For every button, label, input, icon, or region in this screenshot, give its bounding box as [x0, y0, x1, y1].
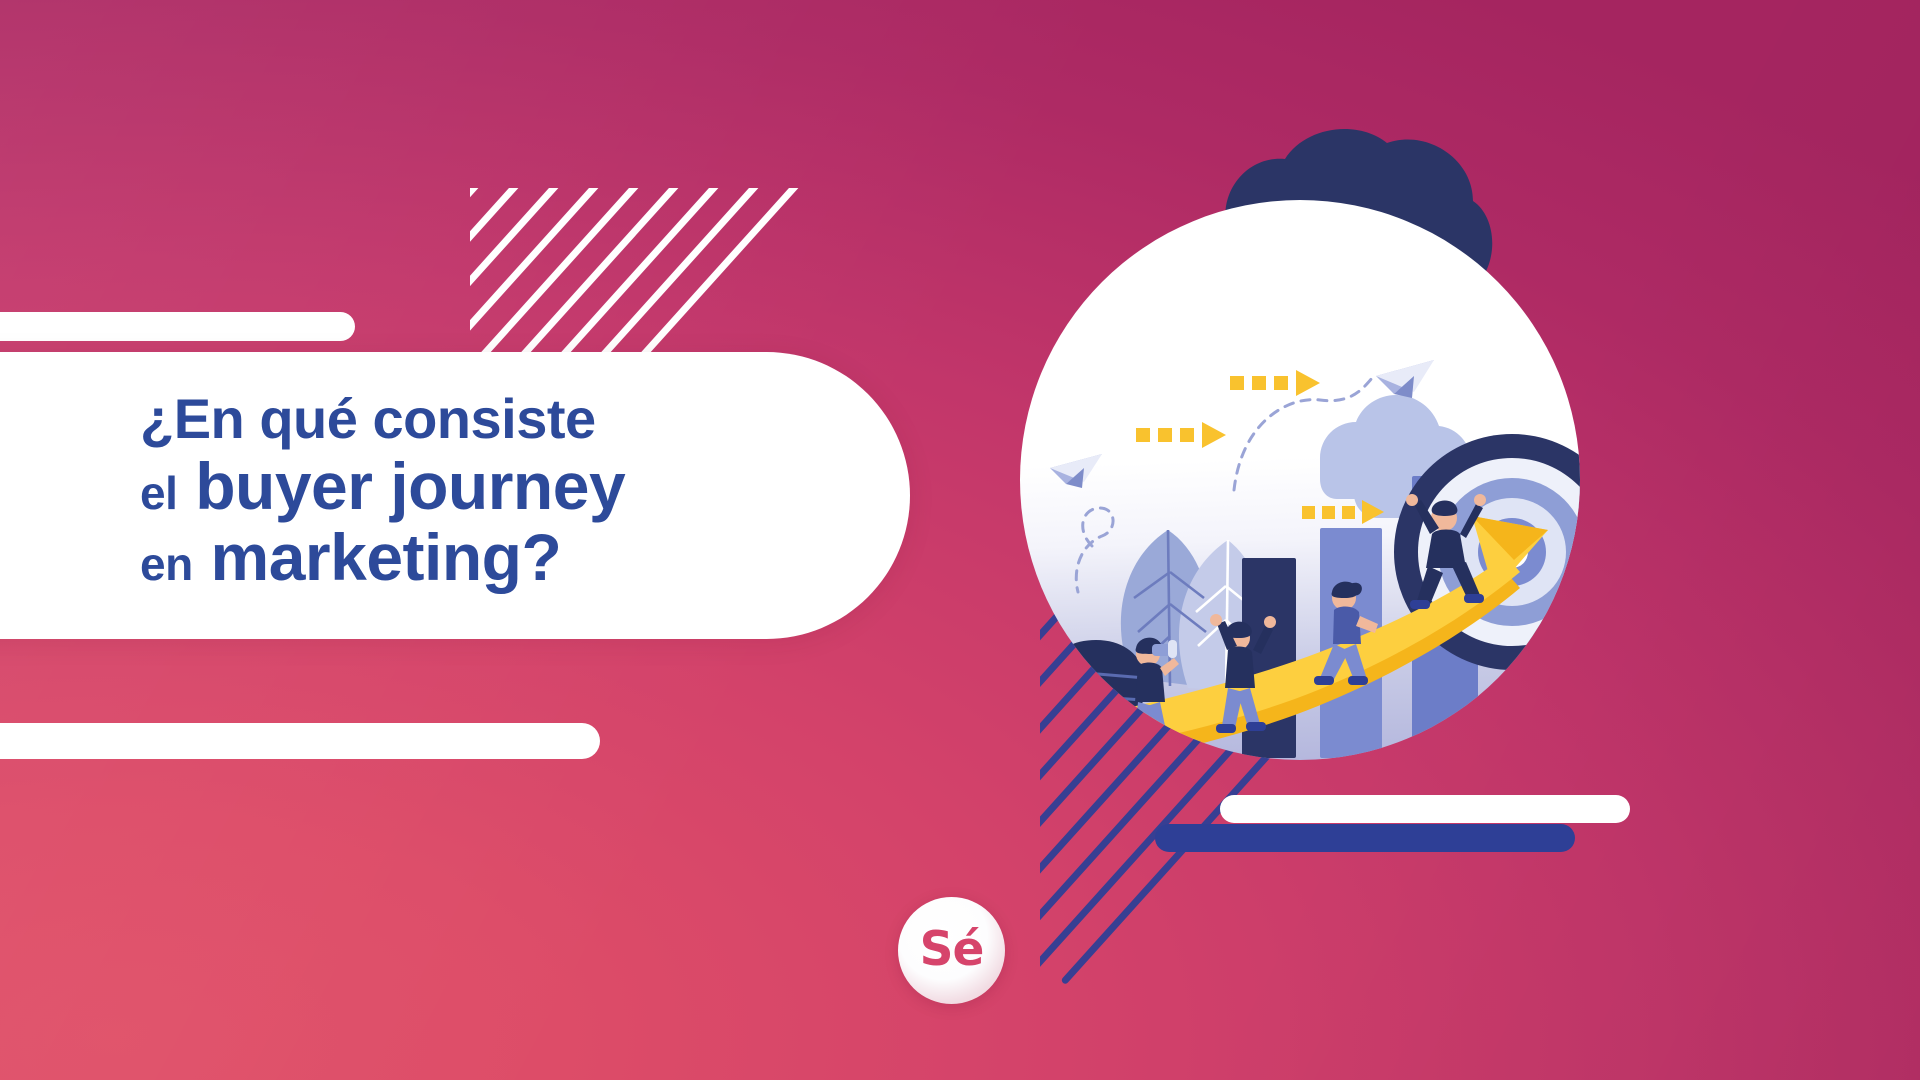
white-pill-top — [0, 312, 355, 341]
headline-line-1: ¿En qué consiste — [140, 390, 860, 447]
white-pill-illustration — [1220, 795, 1630, 823]
headline-line-2-bold: buyer journey — [195, 449, 625, 523]
white-circle-scene — [1020, 200, 1580, 760]
headline-line-2-light: el — [140, 467, 177, 519]
paper-plane-left-icon — [1050, 454, 1102, 488]
headline-line-3-light: en — [140, 538, 193, 590]
se-logo-text: Sé — [920, 926, 984, 973]
navy-pill-illustration — [1155, 824, 1575, 852]
page-title: ¿En qué consiste el buyer journey en mar… — [140, 390, 860, 592]
headline-line-3-bold: marketing? — [211, 520, 562, 594]
se-logo[interactable]: Sé — [898, 897, 1005, 1004]
headline-line-3: en marketing? — [140, 524, 860, 591]
scene-graphics — [1020, 200, 1580, 760]
paper-plane-right-icon — [1376, 360, 1434, 398]
buyer-journey-illustration — [1020, 110, 1640, 750]
banner-canvas: ¿En qué consiste el buyer journey en mar… — [0, 0, 1920, 1080]
yellow-dotted-arrow-2-icon — [1230, 370, 1320, 396]
headline-line-2: el buyer journey — [140, 453, 860, 520]
white-pill-bottom — [0, 723, 600, 759]
yellow-dotted-arrow-1-icon — [1136, 422, 1226, 448]
